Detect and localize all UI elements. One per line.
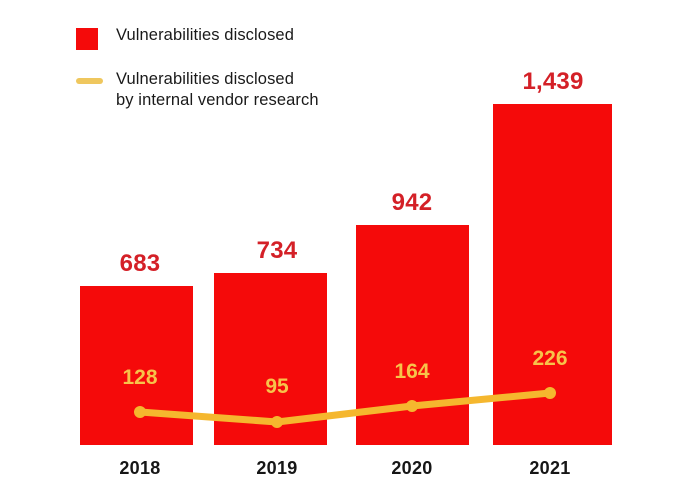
vulnerability-disclosure-chart: Vulnerabilities disclosed Vulnerabilitie… xyxy=(0,0,690,503)
bar-value-2018: 683 xyxy=(120,250,161,278)
bar-2021 xyxy=(493,104,612,445)
x-axis-label-2020: 2020 xyxy=(391,458,432,479)
line-value-2021: 226 xyxy=(532,347,567,371)
x-axis-label-2018: 2018 xyxy=(119,458,160,479)
x-axis-label-2019: 2019 xyxy=(256,458,297,479)
plot-area: 683 734 942 1,439 128 95 164 226 2018 20… xyxy=(0,0,690,503)
line-value-2018: 128 xyxy=(122,366,157,390)
bar-value-2019: 734 xyxy=(257,237,298,265)
line-path xyxy=(140,393,550,422)
bar-value-2021: 1,439 xyxy=(522,68,583,96)
x-axis-label-2021: 2021 xyxy=(529,458,570,479)
bar-2020 xyxy=(356,225,469,445)
bar-2019 xyxy=(214,273,327,445)
line-value-2019: 95 xyxy=(265,375,288,399)
line-value-2020: 164 xyxy=(394,360,429,384)
bar-value-2020: 942 xyxy=(392,189,433,217)
